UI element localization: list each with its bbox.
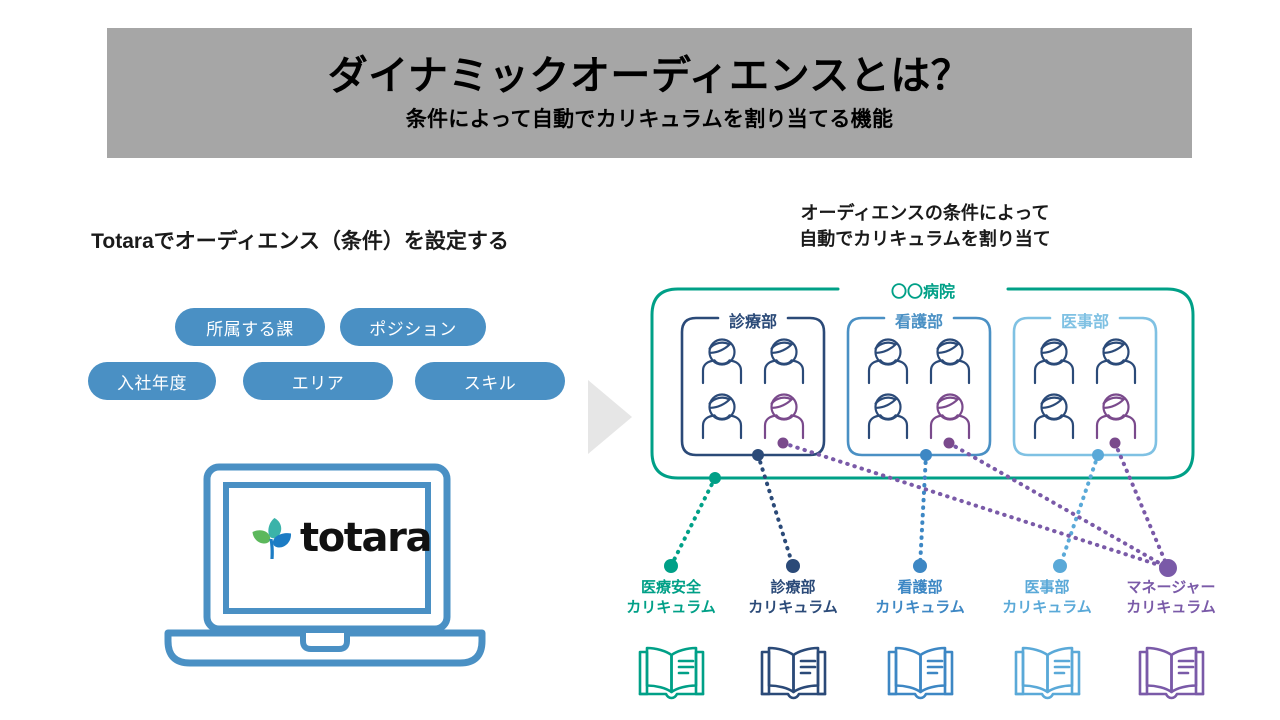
laptop-trackpad-notch (303, 633, 347, 649)
right-caption-line1: オーディエンスの条件によって (700, 200, 1150, 226)
right-section-caption: オーディエンスの条件によって 自動でカリキュラムを割り当て (700, 200, 1150, 252)
laptop-illustration (160, 455, 490, 695)
department-box-shinryoubu (682, 318, 824, 455)
manager-person-icon (765, 395, 803, 439)
condition-pill-skill[interactable]: スキル (415, 362, 565, 400)
book-icon-iryouanzen (640, 648, 703, 698)
right-caption-line2: 自動でカリキュラムを割り当て (700, 226, 1150, 252)
book-icon-shinryoubu (762, 648, 825, 698)
book-icon-manager (1140, 648, 1203, 698)
department-label-kangobu: 看護部 (884, 308, 954, 332)
connector-lines (671, 443, 1168, 568)
department-label-ijibu: 医事部 (1050, 308, 1120, 332)
curriculum-label-kangobu: 看護部 カリキュラム (860, 578, 980, 618)
book-icon-kangobu (889, 648, 952, 698)
connector-dots (664, 438, 1177, 578)
condition-pill-department[interactable]: 所属する課 (175, 308, 325, 346)
curriculum-label-manager: マネージャー カリキュラム (1111, 578, 1231, 618)
curriculum-book-icons (640, 648, 1203, 698)
totara-leaf-icon (250, 515, 294, 561)
flow-arrow-icon (586, 378, 636, 456)
book-icon-ijibu (1016, 648, 1079, 698)
slide-canvas: ダイナミックオーディエンスとは？ 条件によって自動でカリキュラムを割り当てる機能… (0, 0, 1280, 720)
condition-pill-joinyear[interactable]: 入社年度 (88, 362, 216, 400)
curriculum-label-shinryoubu: 診療部 カリキュラム (733, 578, 853, 618)
totara-wordmark: totara (300, 515, 431, 561)
left-section-caption: Totaraでオーディエンス（条件）を設定する (0, 225, 600, 255)
totara-logo: totara (250, 515, 431, 561)
condition-pill-area[interactable]: エリア (243, 362, 393, 400)
manager-person-icon (931, 395, 969, 439)
department-box-ijibu (1014, 318, 1156, 455)
organization-label: 〇〇病院 (843, 278, 1003, 302)
page-title: ダイナミックオーディエンスとは？ (328, 54, 972, 98)
department-label-shinryoubu: 診療部 (718, 308, 788, 332)
curriculum-label-iryouanzen: 医療安全 カリキュラム (611, 578, 731, 618)
curriculum-label-ijibu: 医事部 カリキュラム (987, 578, 1107, 618)
department-box-kangobu (848, 318, 990, 455)
manager-person-icon (1097, 395, 1135, 439)
title-band: ダイナミックオーディエンスとは？ 条件によって自動でカリキュラムを割り当てる機能 (107, 28, 1192, 158)
condition-pill-position[interactable]: ポジション (340, 308, 486, 346)
page-subtitle: 条件によって自動でカリキュラムを割り当てる機能 (406, 108, 894, 131)
